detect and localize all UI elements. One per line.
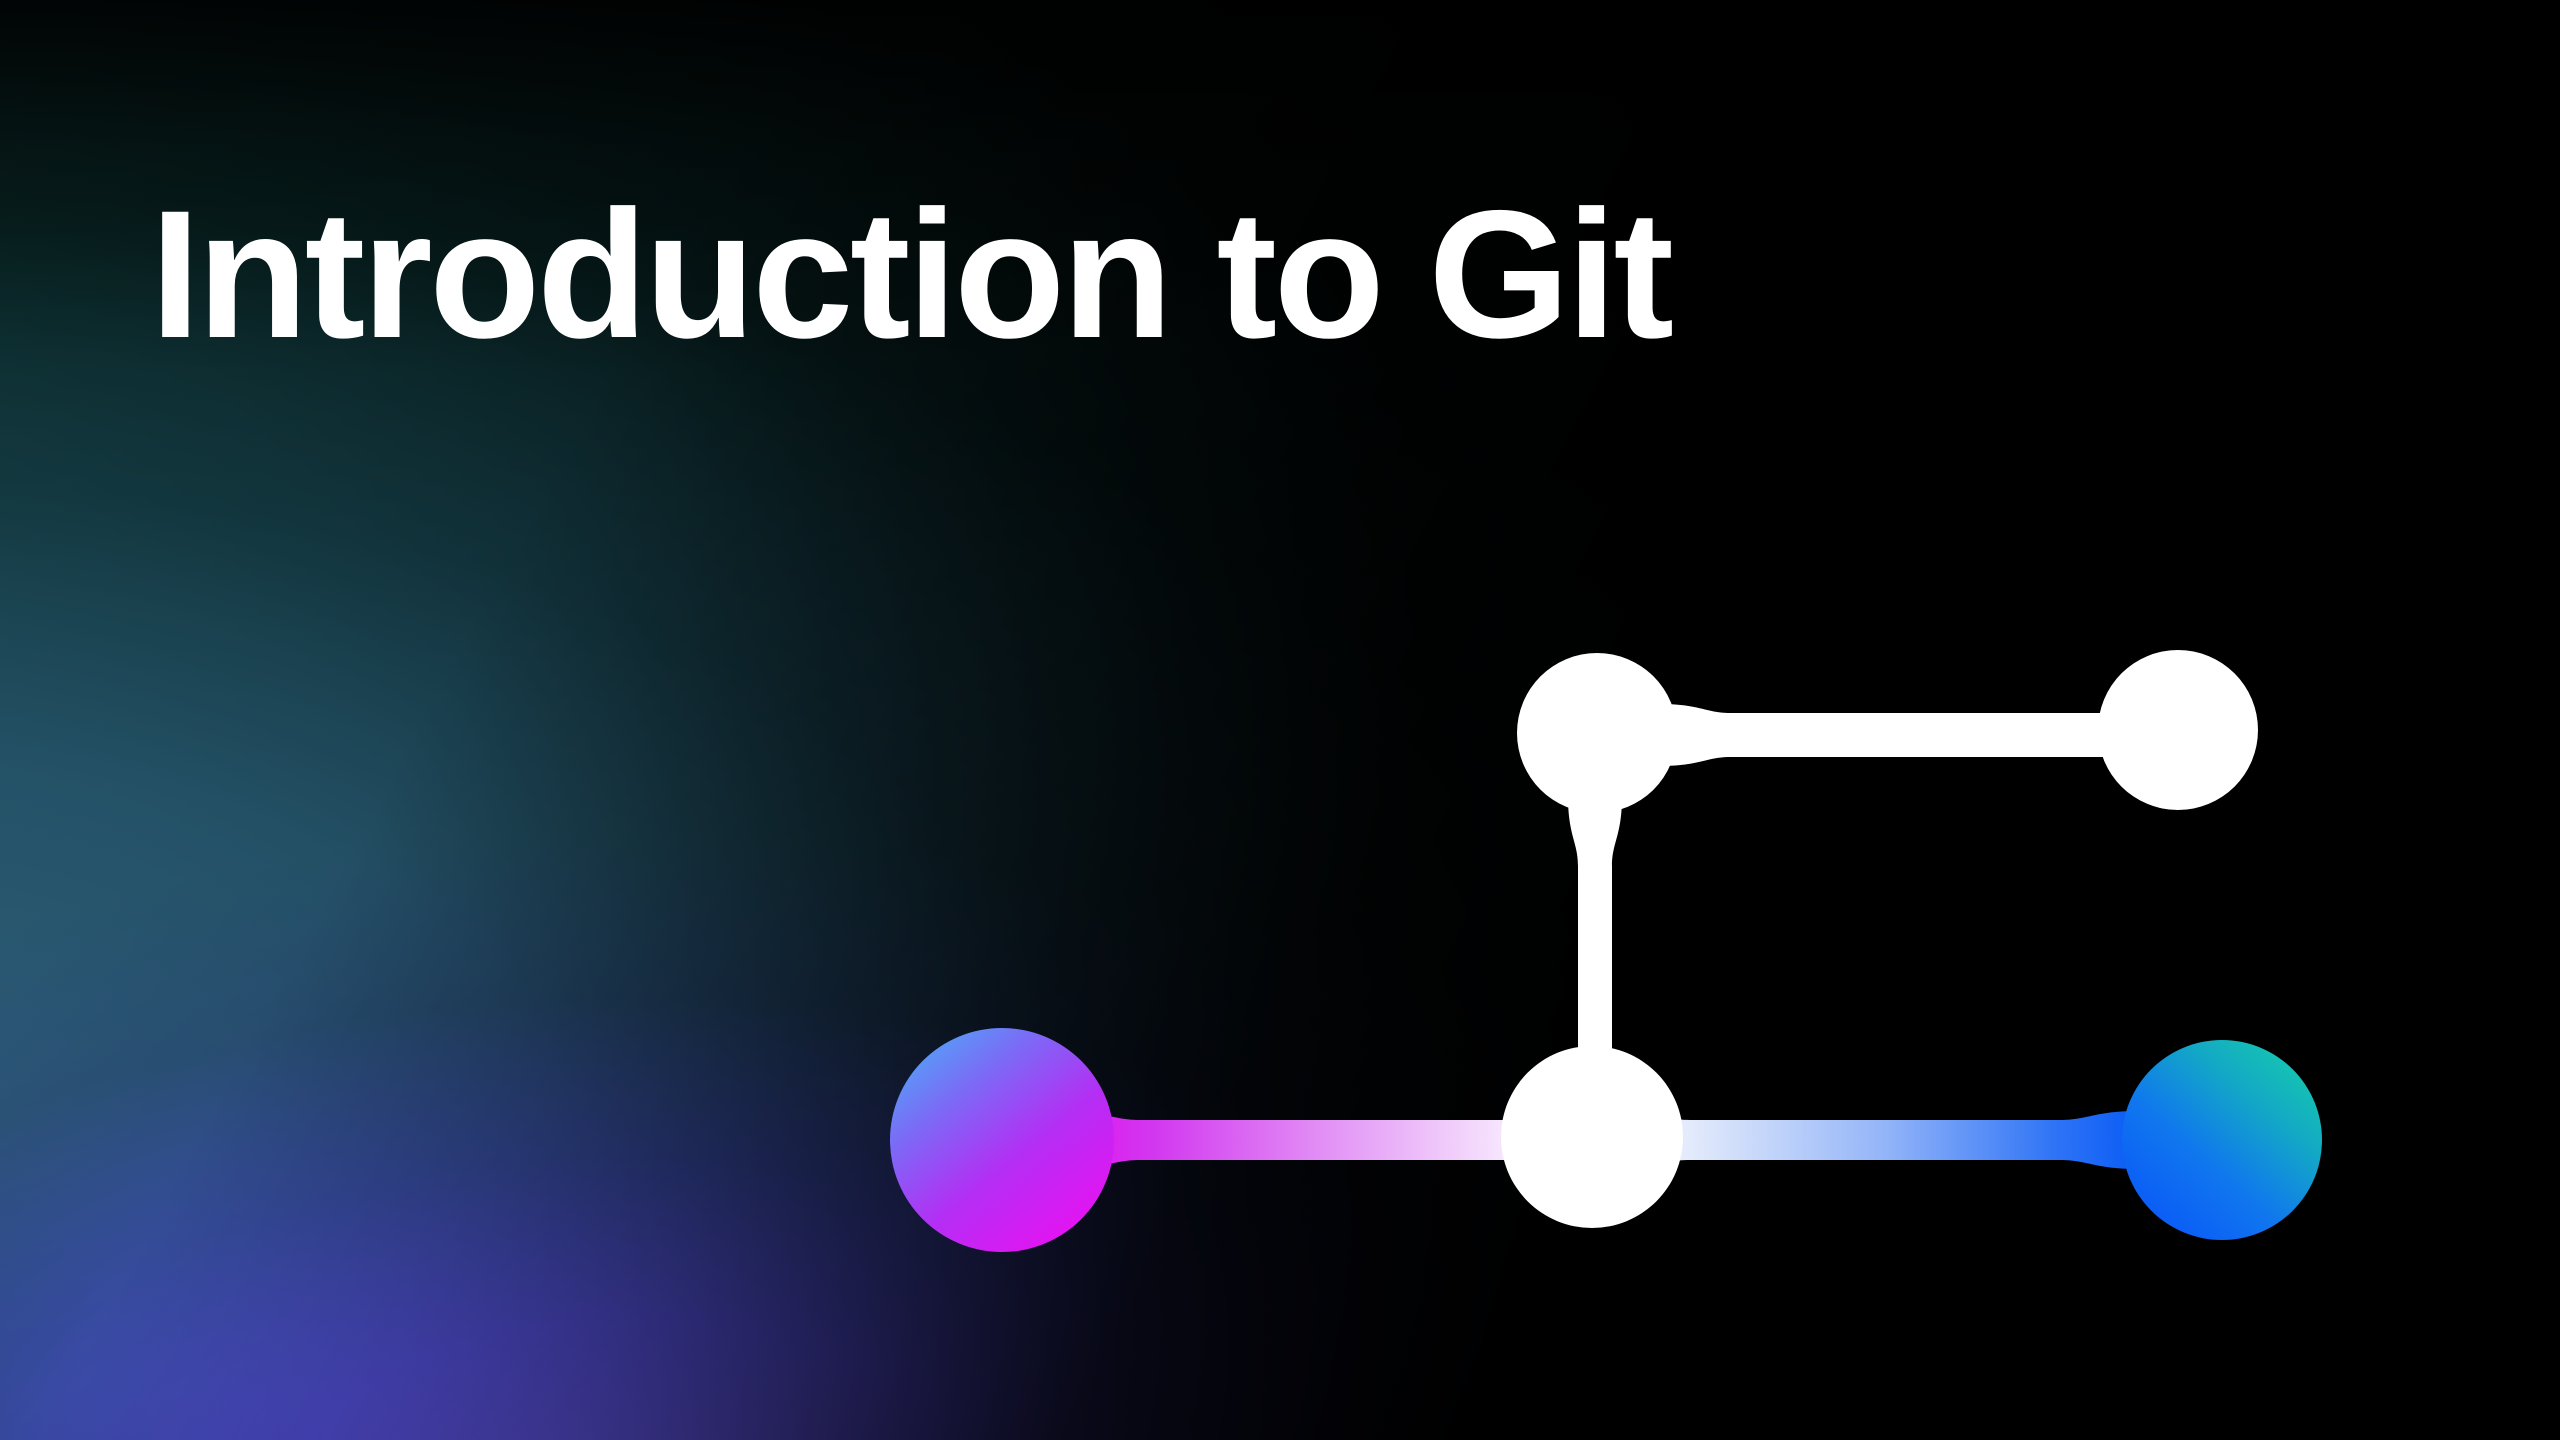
commit-node-top-left[interactable] [1517, 653, 1677, 813]
edge-left-to-center [1062, 1111, 1578, 1169]
slide-canvas: Introduction to Git [0, 0, 2560, 1440]
commit-node-left[interactable] [890, 1028, 1114, 1252]
commit-node-top-right[interactable] [2098, 650, 2258, 810]
page-title: Introduction to Git [150, 178, 1671, 371]
commit-node-center[interactable] [1501, 1046, 1683, 1228]
edge-center-to-right [1612, 1111, 2138, 1169]
commit-node-right[interactable] [2122, 1040, 2322, 1240]
